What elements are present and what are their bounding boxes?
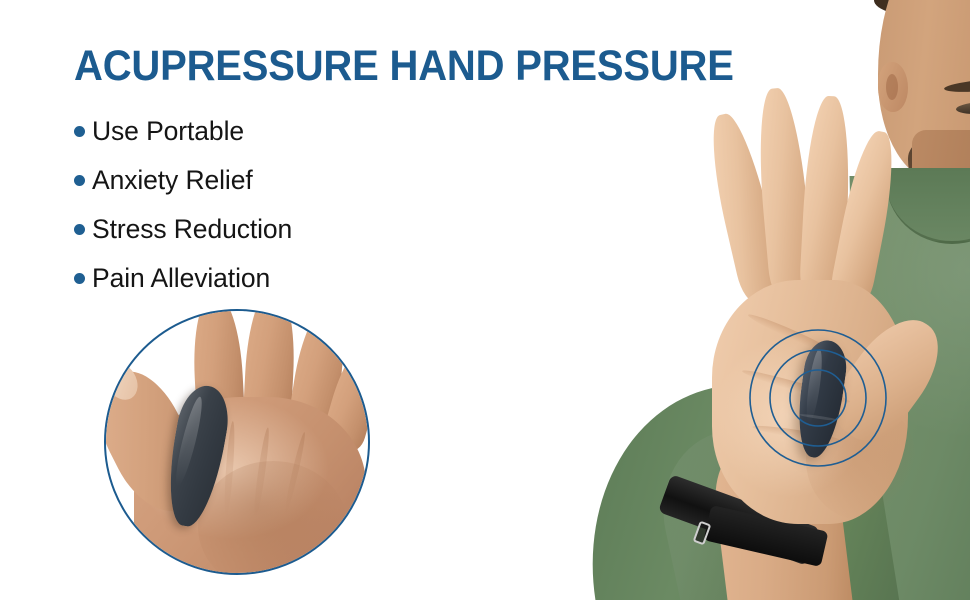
- dot-bullet-icon: [74, 126, 85, 137]
- inset-photo-circle: [104, 309, 370, 575]
- benefit-label: Pain Alleviation: [92, 263, 270, 294]
- device-seam: [799, 413, 837, 421]
- product-banner: ACUPRESSURE HAND PRESSURE Use Portable A…: [0, 0, 970, 600]
- benefit-label: Stress Reduction: [92, 214, 292, 245]
- main-product-photo: [556, 0, 970, 600]
- dot-bullet-icon: [74, 224, 85, 235]
- hand-back-photo: [106, 311, 368, 573]
- dot-bullet-icon: [74, 175, 85, 186]
- ear-inner: [886, 74, 898, 100]
- dot-bullet-icon: [74, 273, 85, 284]
- device-highlight: [804, 349, 825, 424]
- benefit-label: Use Portable: [92, 116, 244, 147]
- device-highlight: [171, 395, 206, 487]
- benefit-label: Anxiety Relief: [92, 165, 253, 196]
